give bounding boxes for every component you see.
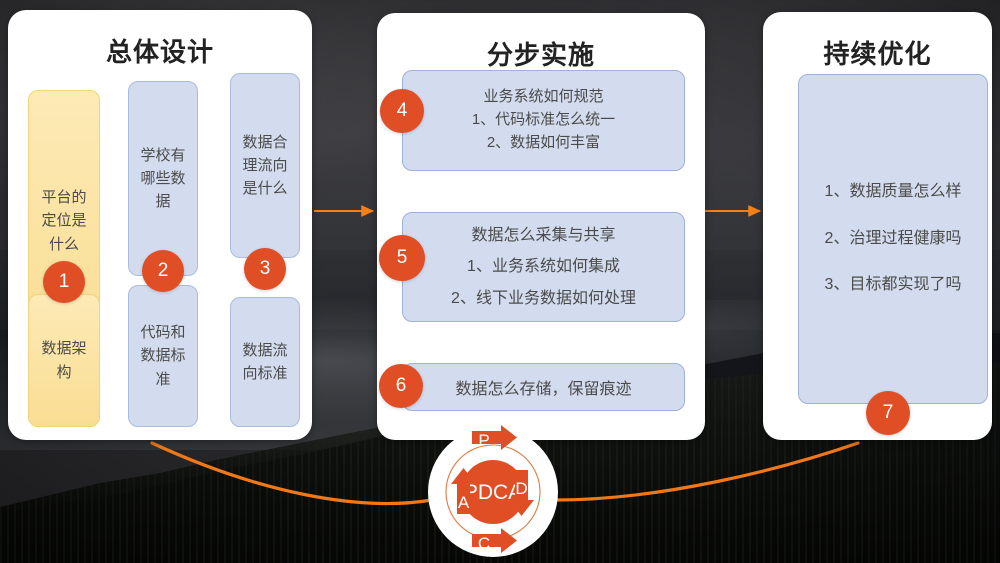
card-data-architecture-text: 数据架 构 bbox=[41, 337, 86, 384]
card-code-and-data-standard-text: 代码和 数据标 准 bbox=[140, 321, 185, 391]
card-optimization-questions[interactable]: 1、数据质量怎么样 2、治理过程健康吗 3、目标都实现了吗 bbox=[798, 74, 988, 404]
pdca-wheel[interactable]: PDCA P D C A bbox=[425, 422, 561, 563]
card-code-and-data-standard[interactable]: 代码和 数据标 准 bbox=[128, 285, 198, 427]
step-5-line-1: 数据怎么采集与共享 bbox=[471, 220, 615, 251]
pdca-arrow-plan-label: P bbox=[478, 431, 489, 450]
panel-optimize-title: 持续优化 bbox=[763, 34, 992, 71]
pdca-arrow-act-label: A bbox=[458, 493, 470, 512]
pdca-arrow-check-label: C bbox=[478, 534, 490, 553]
badge-step-5[interactable]: 5 bbox=[379, 235, 425, 281]
step-5-line-3: 2、线下业务数据如何处理 bbox=[451, 283, 636, 314]
slide-canvas: 总体设计 平台的 定位是 什么 数据架 构 1 学校有 哪些数 据 bbox=[0, 0, 1000, 563]
card-step-5-data-collection[interactable]: 数据怎么采集与共享 1、业务系统如何集成 2、线下业务数据如何处理 bbox=[402, 212, 685, 322]
optimize-line-3: 3、目标都实现了吗 bbox=[825, 262, 962, 308]
badge-step-7[interactable]: 7 bbox=[866, 391, 910, 435]
card-step-6-data-storage[interactable]: 数据怎么存储，保留痕迹 bbox=[402, 363, 685, 411]
card-data-flow-direction-text: 数据合 理流向 是什么 bbox=[242, 131, 287, 201]
card-school-data-text: 学校有 哪些数 据 bbox=[140, 144, 185, 214]
step-4-line-2: 1、代码标准怎么统一 bbox=[472, 109, 615, 132]
card-data-flow-standard[interactable]: 数据流 向标准 bbox=[230, 297, 300, 427]
panel-continuous-optimization[interactable]: 持续优化 1、数据质量怎么样 2、治理过程健康吗 3、目标都实现了吗 7 bbox=[763, 12, 992, 440]
card-school-data[interactable]: 学校有 哪些数 据 bbox=[128, 81, 198, 276]
badge-step-4[interactable]: 4 bbox=[380, 89, 424, 133]
card-platform-positioning-text: 平台的 定位是 什么 bbox=[41, 186, 86, 256]
card-data-architecture[interactable]: 数据架 构 bbox=[28, 294, 100, 427]
step-5-line-2: 1、业务系统如何集成 bbox=[467, 251, 620, 282]
panel-overall-title: 总体设计 bbox=[8, 32, 312, 69]
badge-step-2[interactable]: 2 bbox=[142, 250, 184, 292]
panel-stepwise-title: 分步实施 bbox=[377, 35, 705, 72]
step-4-line-1: 业务系统如何规范 bbox=[483, 86, 603, 109]
step-6-line-1: 数据怎么存储，保留痕迹 bbox=[455, 375, 631, 399]
pdca-arrow-do-label: D bbox=[515, 479, 527, 498]
badge-step-1[interactable]: 1 bbox=[43, 261, 85, 303]
panel-overall-design[interactable]: 总体设计 平台的 定位是 什么 数据架 构 1 学校有 哪些数 据 bbox=[8, 10, 312, 440]
optimize-line-2: 2、治理过程健康吗 bbox=[825, 216, 962, 262]
optimize-line-1: 1、数据质量怎么样 bbox=[825, 169, 962, 215]
card-data-flow-direction[interactable]: 数据合 理流向 是什么 bbox=[230, 73, 300, 258]
step-4-line-3: 2、数据如何丰富 bbox=[487, 132, 600, 155]
panel-stepwise-implementation[interactable]: 分步实施 业务系统如何规范 1、代码标准怎么统一 2、数据如何丰富 4 数据怎么… bbox=[377, 13, 705, 440]
card-data-flow-standard-text: 数据流 向标准 bbox=[242, 339, 287, 386]
badge-step-3[interactable]: 3 bbox=[244, 248, 286, 290]
card-step-4-business-system[interactable]: 业务系统如何规范 1、代码标准怎么统一 2、数据如何丰富 bbox=[402, 70, 685, 171]
badge-step-6[interactable]: 6 bbox=[379, 364, 423, 408]
